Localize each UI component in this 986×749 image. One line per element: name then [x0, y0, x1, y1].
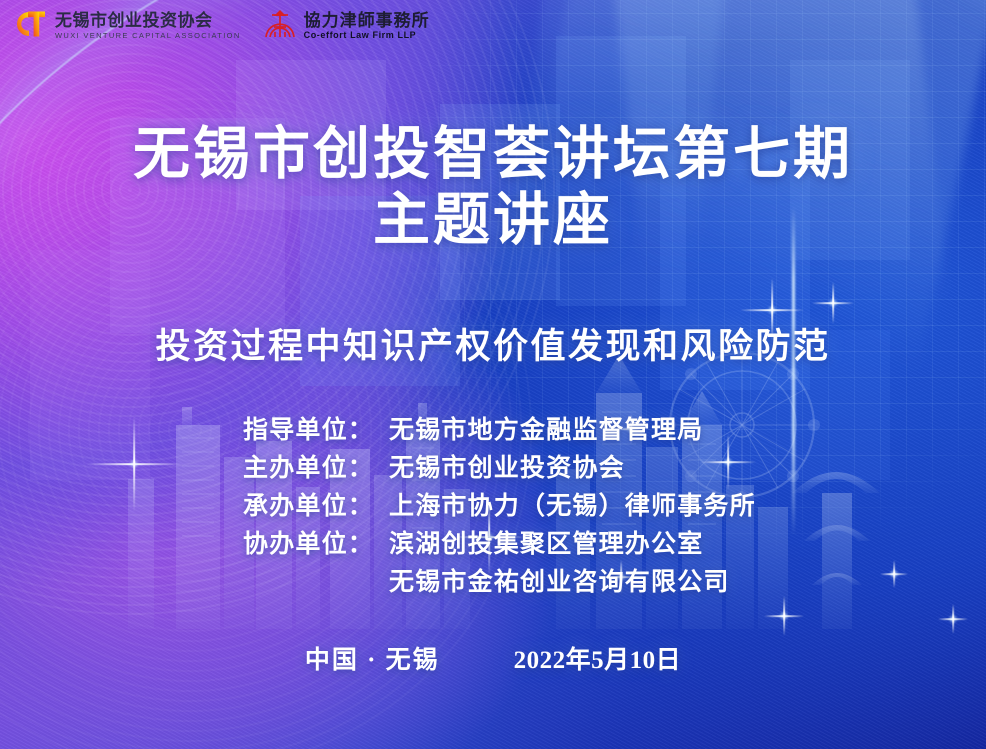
logo-name-cn: 協力津師事務所	[304, 12, 430, 29]
organization-value: 无锡市金祐创业咨询有限公司	[389, 566, 743, 600]
event-location: 中国 · 无锡	[305, 640, 440, 676]
organization-value: 滨湖创投集聚区管理办公室	[389, 528, 743, 562]
organization-label: 协办单位：	[243, 528, 389, 562]
poster-content: 无锡市创投智荟讲坛第七期 主题讲座 投资过程中知识产权价值发现和风险防范 指导单…	[0, 0, 986, 749]
event-poster: 无锡市创业投资协会 WUXI VENTURE CAPITAL ASSOCIATI…	[0, 0, 986, 749]
organization-row: 无锡市金祐创业咨询有限公司	[243, 566, 743, 600]
logo-name-cn: 无锡市创业投资协会	[55, 12, 241, 29]
organization-value: 上海市协力（无锡）律师事务所	[389, 490, 756, 524]
event-title-line2: 主题讲座	[0, 188, 986, 254]
logo-wuxi-venture-capital-association: 无锡市创业投资协会 WUXI VENTURE CAPITAL ASSOCIATI…	[12, 9, 241, 44]
event-subtitle: 投资过程中知识产权价值发现和风险防范	[0, 318, 986, 369]
organization-row: 指导单位： 无锡市地方金融监督管理局	[243, 414, 743, 448]
event-title: 无锡市创投智荟讲坛第七期 主题讲座	[0, 122, 986, 254]
ct-monogram-icon	[12, 9, 48, 44]
logo-name-en: WUXI VENTURE CAPITAL ASSOCIATION	[55, 32, 241, 40]
organization-row: 主办单位： 无锡市创业投资协会	[243, 452, 743, 486]
event-date: 2022年5月10日	[514, 640, 682, 676]
organization-label: 主办单位：	[243, 452, 389, 486]
organization-value: 无锡市地方金融监督管理局	[389, 414, 743, 448]
bridge-arch-icon	[263, 8, 297, 45]
organization-row: 协办单位： 滨湖创投集聚区管理办公室	[243, 528, 743, 562]
event-title-line1: 无锡市创投智荟讲坛第七期	[133, 123, 853, 186]
organization-label: 承办单位：	[243, 490, 389, 524]
logo-co-effort-law-firm: 協力津師事務所 Co-effort Law Firm LLP	[263, 8, 430, 45]
logo-bar: 无锡市创业投资协会 WUXI VENTURE CAPITAL ASSOCIATI…	[0, 0, 986, 52]
logo-name-en: Co-effort Law Firm LLP	[304, 31, 430, 40]
organization-list: 指导单位： 无锡市地方金融监督管理局 主办单位： 无锡市创业投资协会 承办单位：…	[0, 414, 986, 600]
organization-value: 无锡市创业投资协会	[389, 452, 743, 486]
poster-footer: 中国 · 无锡 2022年5月10日	[0, 640, 986, 676]
organization-row: 承办单位： 上海市协力（无锡）律师事务所	[243, 490, 743, 524]
organization-label: 指导单位：	[243, 414, 389, 448]
